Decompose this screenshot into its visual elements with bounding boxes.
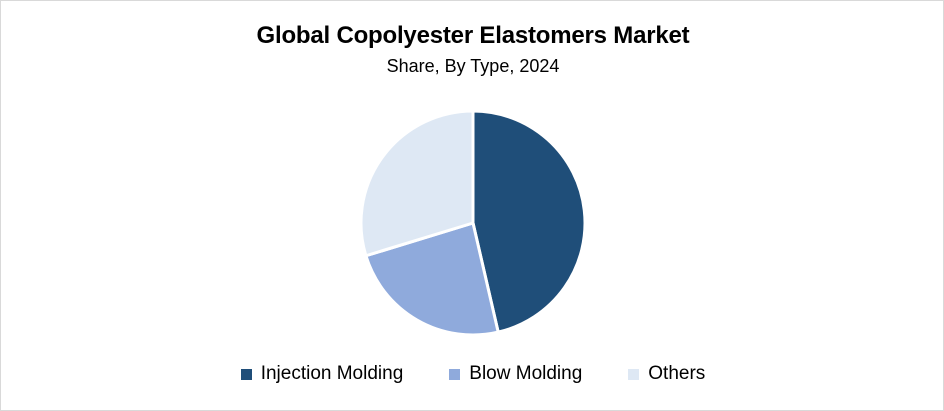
chart-container: Global Copolyester Elastomers Market Sha… xyxy=(0,0,944,411)
square-swatch-icon xyxy=(241,369,252,380)
legend-item-blow-molding[interactable]: Blow Molding xyxy=(449,363,582,385)
legend-item-others[interactable]: Others xyxy=(628,363,705,385)
chart-subtitle: Share, By Type, 2024 xyxy=(1,54,944,78)
pie-chart-plot-area xyxy=(361,111,585,335)
square-swatch-icon xyxy=(628,369,639,380)
pie-chart-svg xyxy=(361,111,585,335)
chart-legend: Injection Molding Blow Molding Others xyxy=(1,363,944,385)
legend-item-label: Others xyxy=(648,363,705,385)
pie-slice-group xyxy=(361,111,585,335)
chart-title: Global Copolyester Elastomers Market xyxy=(1,21,944,51)
square-swatch-icon xyxy=(449,369,460,380)
legend-item-label: Injection Molding xyxy=(261,363,404,385)
legend-item-injection-molding[interactable]: Injection Molding xyxy=(241,363,404,385)
legend-item-label: Blow Molding xyxy=(469,363,582,385)
chart-header: Global Copolyester Elastomers Market Sha… xyxy=(1,21,944,78)
